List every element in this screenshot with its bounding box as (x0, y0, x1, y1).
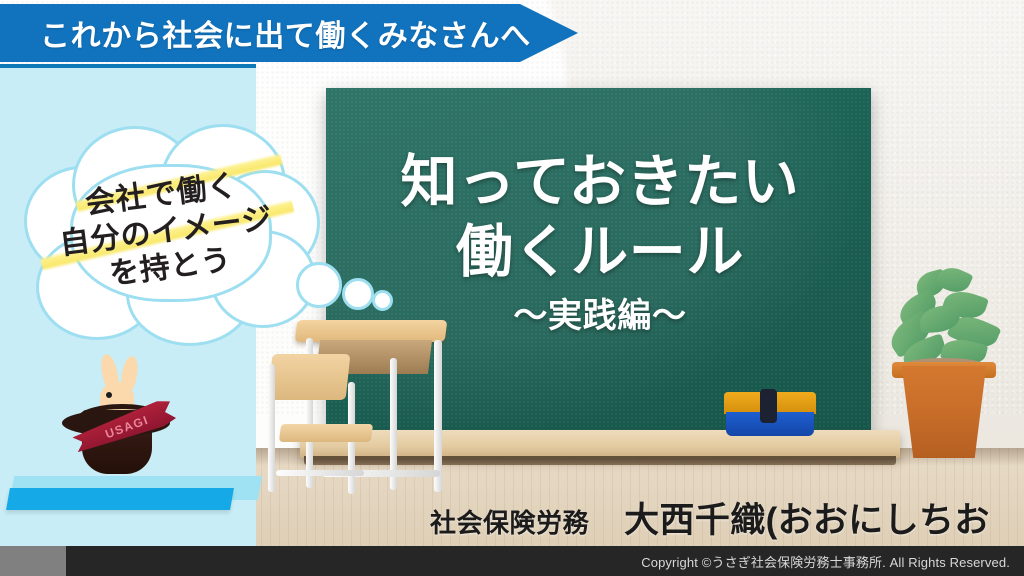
potted-plant (880, 262, 1008, 462)
slide-canvas: 会社で働く 自分のイメージ を持とう USAGI これから社会に出て働くみなさん… (0, 0, 1024, 576)
school-desk (262, 320, 462, 495)
title-subtitle: 〜実践編〜 (340, 291, 860, 342)
chair-backrest (268, 354, 351, 400)
left-panel-topline (0, 64, 256, 68)
bubble-text-group: 会社で働く 自分のイメージ を持とう (23, 136, 309, 327)
eraser-strap (760, 389, 777, 423)
footer-gray-block (0, 546, 66, 576)
blackboard-eraser-icon (724, 392, 816, 436)
footer-copyright: Copyright ©うさぎ社会保険労務士事務所. All Rights Res… (641, 552, 1010, 571)
chair-stretcher (276, 470, 364, 476)
title-line-1: 知っておきたい (340, 148, 860, 218)
thought-bubble: 会社で働く 自分のイメージ を持とう (14, 122, 314, 340)
rabbit-eye (106, 392, 112, 398)
bubble-dot-large (296, 262, 342, 308)
chair-leg (268, 364, 275, 492)
terracotta-pot (896, 366, 992, 458)
title-line-2: 働くルール (340, 218, 860, 288)
usagi-logo: USAGI (46, 358, 186, 488)
slide-title-group: 知っておきたい 働くルール 〜実践編〜 (340, 148, 860, 342)
decor-bar-dark (6, 488, 234, 510)
chair-seat (279, 424, 373, 442)
header-banner-text: これから社会に出て働くみなさんへ (40, 11, 531, 55)
header-banner: これから社会に出て働くみなさんへ (0, 4, 578, 62)
presenter-credit: 社会保険労務士 大西千織(おおにしちおり) (430, 492, 1016, 538)
